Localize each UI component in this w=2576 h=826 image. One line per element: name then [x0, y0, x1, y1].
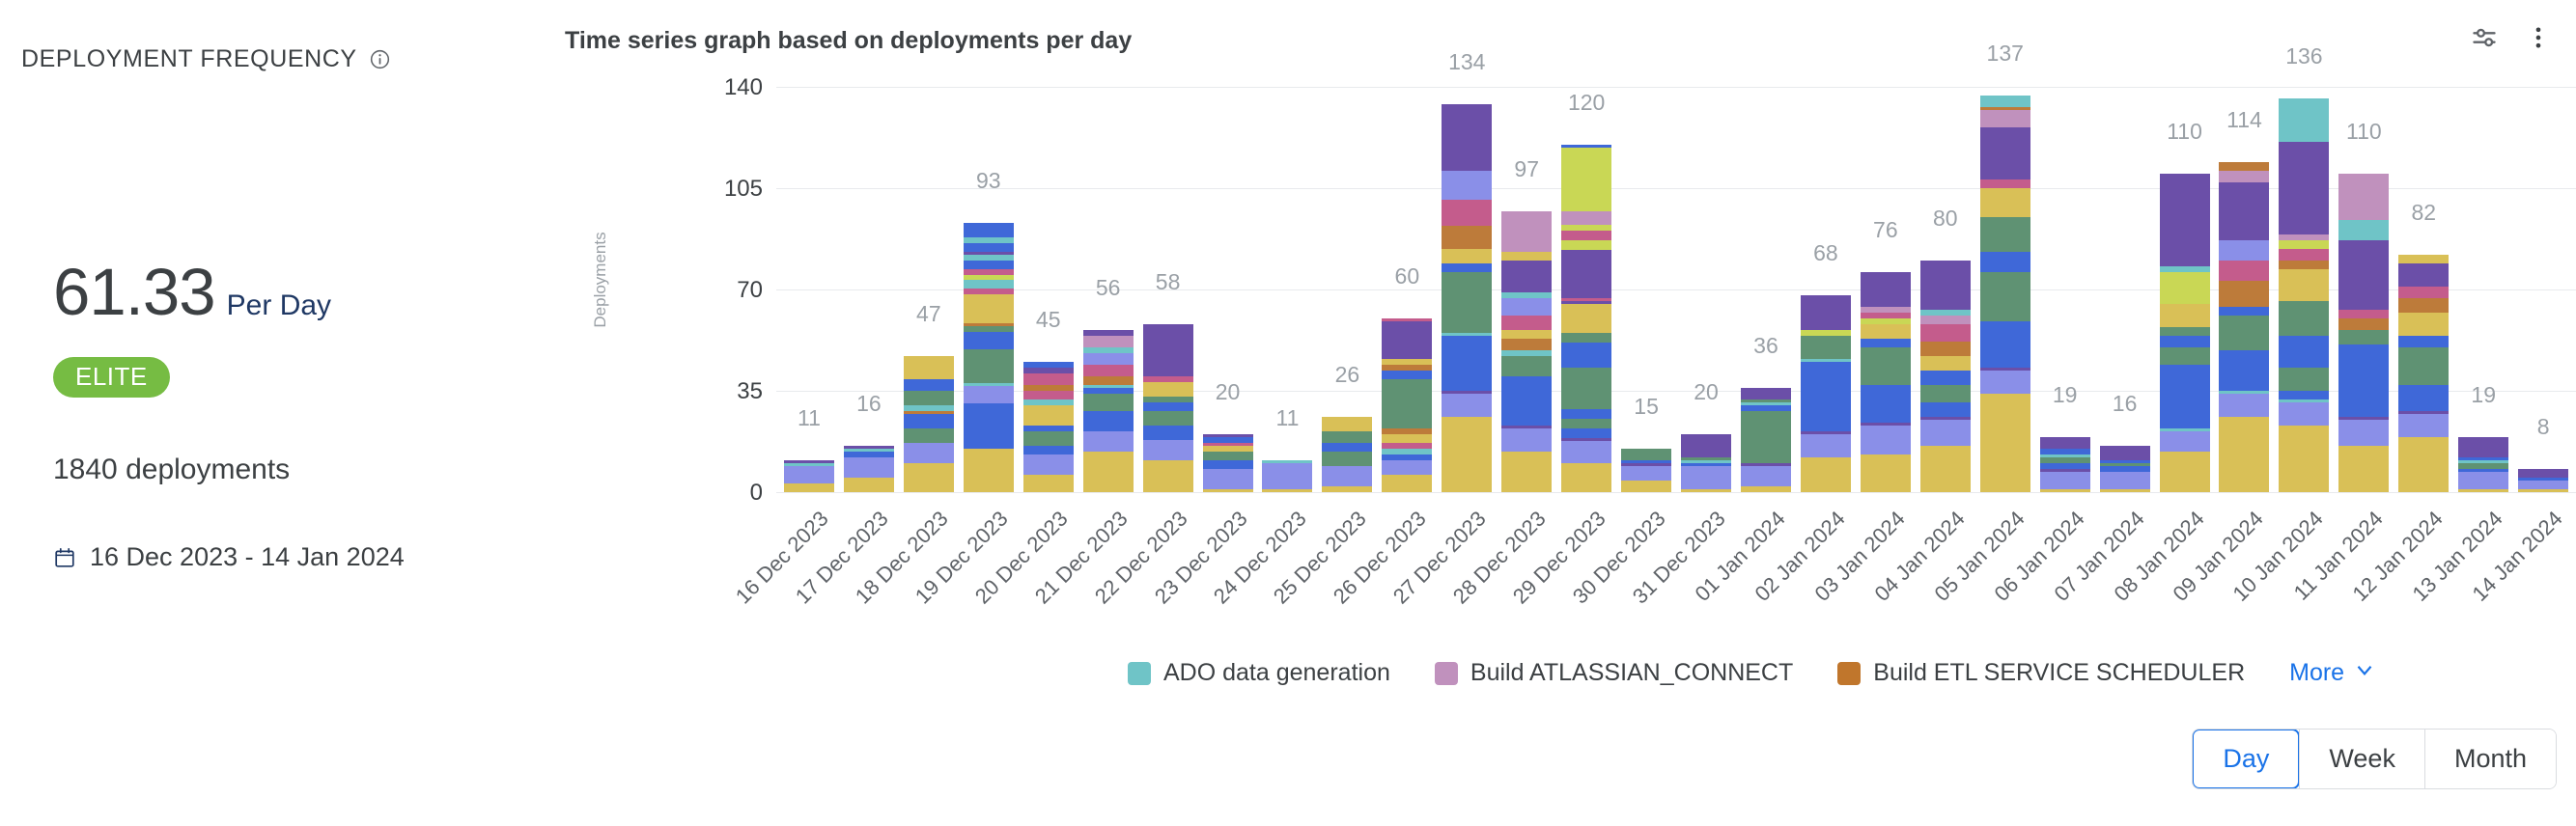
bar-segment[interactable] — [1382, 371, 1432, 379]
bar-segment[interactable] — [1920, 385, 1971, 402]
bar-segment[interactable] — [2518, 469, 2568, 478]
bar-segment[interactable] — [1501, 211, 1552, 252]
bar-slot: 134 — [1437, 87, 1497, 492]
bar-segment[interactable] — [1741, 486, 1791, 492]
bar-segment[interactable] — [2338, 310, 2389, 318]
bar-segment[interactable] — [844, 478, 894, 492]
bar-segment[interactable] — [1920, 446, 1971, 492]
bar-slot: 114 — [2215, 87, 2275, 492]
bar-segment[interactable] — [2398, 255, 2449, 263]
bar-value-label: 68 — [1796, 240, 1856, 266]
bar-segment[interactable] — [2398, 437, 2449, 492]
bar-segment[interactable] — [1501, 261, 1552, 292]
bar-segment[interactable] — [1861, 324, 1911, 339]
bar-segment[interactable] — [2398, 385, 2449, 411]
bar-segment[interactable] — [1083, 394, 1134, 411]
tune-icon[interactable] — [2468, 21, 2501, 54]
bar-segment[interactable] — [1442, 362, 1492, 391]
bar-slot: 120 — [1556, 87, 1616, 492]
legend-more-label: More — [2289, 659, 2344, 687]
bar-segment[interactable] — [2160, 347, 2210, 365]
bar-stack[interactable] — [2160, 174, 2210, 492]
bar-segment[interactable] — [964, 261, 1014, 269]
bar-value-label: 137 — [1975, 41, 2035, 67]
bar-segment[interactable] — [1980, 179, 2030, 188]
bar-segment[interactable] — [1920, 316, 1971, 324]
metric-unit: Per Day — [227, 289, 331, 322]
bar-segment[interactable] — [1801, 362, 1851, 397]
bar-segment[interactable] — [964, 449, 1014, 492]
bar-segment[interactable] — [1561, 304, 1611, 333]
bar-value-label: 16 — [839, 391, 899, 417]
bar-segment[interactable] — [1083, 431, 1134, 452]
bar-segment[interactable] — [1621, 481, 1671, 492]
bar-value-label: 110 — [2334, 119, 2394, 145]
bar-segment[interactable] — [1023, 431, 1074, 446]
bar-segment[interactable] — [1561, 368, 1611, 409]
bar-segment[interactable] — [1322, 443, 1372, 452]
bar-slot: 80 — [1916, 87, 1975, 492]
bar-segment[interactable] — [1322, 452, 1372, 466]
bar-segment[interactable] — [2338, 446, 2389, 492]
bar-segment[interactable] — [2338, 318, 2389, 330]
bar-segment[interactable] — [1382, 434, 1432, 443]
bar-segment[interactable] — [1023, 405, 1074, 426]
bar-segment[interactable] — [2398, 347, 2449, 362]
bar-segment[interactable] — [904, 391, 954, 405]
bar-segment[interactable] — [2100, 472, 2150, 489]
bar-stack[interactable] — [1561, 145, 1611, 492]
bar-segment[interactable] — [1920, 261, 1971, 310]
bar-segment[interactable] — [1920, 420, 1971, 446]
bar-segment[interactable] — [1561, 211, 1611, 224]
bar-value-label: 45 — [1019, 307, 1078, 333]
bar-segment[interactable] — [2518, 481, 2568, 489]
bar-stack[interactable] — [1382, 318, 1432, 492]
bar-stack[interactable] — [1442, 104, 1492, 492]
bar-segment[interactable] — [1083, 353, 1134, 365]
bar-segment[interactable] — [964, 403, 1014, 449]
legend-item[interactable]: ADO data generation — [1128, 659, 1390, 687]
bar-segment[interactable] — [2160, 452, 2210, 492]
bar-segment[interactable] — [1143, 426, 1193, 440]
bar-segment[interactable] — [1262, 489, 1312, 492]
bar-segment[interactable] — [1442, 200, 1492, 226]
bar-segment[interactable] — [2160, 365, 2210, 428]
bar-segment[interactable] — [2040, 472, 2090, 489]
bar-segment[interactable] — [2219, 182, 2269, 240]
bar-segment[interactable] — [1083, 336, 1134, 347]
bar-segment[interactable] — [2398, 313, 2449, 336]
bar-slot: 110 — [2155, 87, 2215, 492]
bar-segment[interactable] — [1023, 373, 1074, 385]
bar-segment[interactable] — [2160, 327, 2210, 336]
bar-segment[interactable] — [2398, 362, 2449, 385]
bar-stack[interactable] — [1322, 417, 1372, 492]
bar-segment[interactable] — [904, 443, 954, 463]
bar-segment[interactable] — [1203, 489, 1253, 492]
bar-segment[interactable] — [2219, 240, 2269, 261]
bar-segment[interactable] — [1980, 272, 2030, 321]
y-axis-tick: 70 — [647, 277, 763, 304]
bar-segment[interactable] — [964, 294, 1014, 323]
bar-segment[interactable] — [1083, 452, 1134, 492]
bar-segment[interactable] — [1561, 441, 1611, 463]
bar-segment[interactable] — [1382, 379, 1432, 428]
bar-segment[interactable] — [1920, 371, 1971, 385]
bar-segment[interactable] — [1203, 460, 1253, 469]
bar-segment[interactable] — [1143, 411, 1193, 426]
bar-segment[interactable] — [1382, 460, 1432, 475]
legend-swatch — [1837, 662, 1861, 685]
bar-segment[interactable] — [1023, 475, 1074, 492]
bar-segment[interactable] — [964, 349, 1014, 384]
bar-segment[interactable] — [1920, 402, 1971, 417]
bar-value-label: 82 — [2394, 200, 2453, 226]
bar-segment[interactable] — [1442, 104, 1492, 171]
bar-segment[interactable] — [1861, 454, 1911, 492]
bar-stack[interactable] — [2398, 255, 2449, 492]
bar-segment[interactable] — [904, 428, 954, 443]
legend-item[interactable]: Build ATLASSIAN_CONNECT — [1435, 659, 1793, 687]
bar-value-label: 60 — [1377, 263, 1437, 289]
bar-segment[interactable] — [904, 463, 954, 492]
bar-stack[interactable] — [1143, 324, 1193, 492]
bar-slot: 8 — [2513, 87, 2573, 492]
bar-segment[interactable] — [1561, 333, 1611, 343]
bar-segment[interactable] — [2100, 446, 2150, 460]
bar-segment[interactable] — [2338, 330, 2389, 344]
bar-segment[interactable] — [964, 223, 1014, 237]
bar-segment[interactable] — [1561, 240, 1611, 250]
bar-stack[interactable] — [2040, 437, 2090, 492]
bar-segment[interactable] — [2219, 162, 2269, 171]
bar-segment[interactable] — [2398, 336, 2449, 347]
bar-segment[interactable] — [1801, 434, 1851, 457]
bar-segment[interactable] — [2458, 489, 2508, 492]
bar-slot: 11 — [779, 87, 839, 492]
bar-segment[interactable] — [844, 457, 894, 478]
bar-segment[interactable] — [1442, 272, 1492, 281]
y-axis-tick: 140 — [647, 74, 763, 101]
bar-segment[interactable] — [2279, 426, 2329, 492]
bar-segment[interactable] — [1023, 391, 1074, 399]
bar-segment[interactable] — [2279, 269, 2329, 301]
bar-stack[interactable] — [2338, 174, 2389, 492]
bar-slot: 58 — [1138, 87, 1198, 492]
bar-segment[interactable] — [2338, 174, 2389, 217]
bar-segment[interactable] — [2219, 417, 2269, 492]
bar-segment[interactable] — [2398, 414, 2449, 437]
bar-segment[interactable] — [1980, 127, 2030, 177]
bar-segment[interactable] — [1801, 336, 1851, 359]
bar-segment[interactable] — [964, 243, 1014, 252]
bar-stack[interactable] — [844, 446, 894, 492]
bar-slot: 20 — [1676, 87, 1736, 492]
bar-segment[interactable] — [1980, 110, 2030, 127]
bar-segment[interactable] — [1322, 486, 1372, 492]
bar-segment[interactable] — [964, 280, 1014, 289]
bar-segment[interactable] — [2219, 350, 2269, 365]
bar-segment[interactable] — [1801, 295, 1851, 330]
bar-segment[interactable] — [1861, 385, 1911, 399]
bar-segment[interactable] — [1143, 460, 1193, 492]
bar-segment[interactable] — [1561, 225, 1611, 232]
bar-segment[interactable] — [1143, 382, 1193, 397]
bar-segment[interactable] — [1083, 411, 1134, 431]
bar-stack[interactable] — [784, 460, 834, 492]
legend-item[interactable]: Build ETL SERVICE SCHEDULER — [1837, 659, 2245, 687]
bar-segment[interactable] — [1861, 272, 1911, 307]
bar-segment[interactable] — [1442, 263, 1492, 272]
bar-segment[interactable] — [2279, 336, 2329, 368]
bar-segment[interactable] — [1262, 463, 1312, 489]
bar-value-label: 56 — [1078, 275, 1138, 301]
bar-stack[interactable] — [1920, 261, 1971, 492]
bar-stack[interactable] — [2100, 446, 2150, 492]
bar-segment[interactable] — [2160, 174, 2210, 266]
bar-segment[interactable] — [1561, 231, 1611, 240]
bar-segment[interactable] — [2338, 344, 2389, 359]
bar-stack[interactable] — [1023, 362, 1074, 492]
bar-segment[interactable] — [964, 332, 1014, 349]
bar-segment[interactable] — [2398, 298, 2449, 313]
bar-segment[interactable] — [1501, 330, 1552, 339]
chart-title: Time series graph based on deployments p… — [565, 27, 1132, 55]
bar-segment[interactable] — [2279, 261, 2329, 269]
bar-segment[interactable] — [2279, 98, 2329, 142]
bar-segment[interactable] — [2338, 359, 2389, 417]
bar-segment[interactable] — [2219, 281, 2269, 307]
bar-segment[interactable] — [2160, 272, 2210, 304]
bar-segment[interactable] — [904, 379, 954, 391]
bar-value-label: 110 — [2155, 119, 2215, 145]
bar-segment[interactable] — [2398, 263, 2449, 287]
bar-segment[interactable] — [2279, 142, 2329, 234]
bar-segment[interactable] — [2279, 301, 2329, 336]
bar-segment[interactable] — [2219, 307, 2269, 316]
bar-stack[interactable] — [904, 356, 954, 492]
bar-segment[interactable] — [1203, 469, 1253, 489]
bar-stack[interactable] — [1203, 434, 1253, 492]
bar-segment[interactable] — [1741, 466, 1791, 486]
chart-card: Time series graph based on deployments p… — [541, 0, 2576, 826]
bar-value-label: 76 — [1856, 217, 1916, 243]
bar-segment[interactable] — [1322, 417, 1372, 431]
bar-slot: 56 — [1078, 87, 1138, 492]
bar-segment[interactable] — [784, 466, 834, 483]
bar-segment[interactable] — [2279, 249, 2329, 261]
bar-segment[interactable] — [1980, 394, 2030, 492]
bar-segment[interactable] — [1143, 324, 1193, 376]
bar-segment[interactable] — [1501, 452, 1552, 492]
bar-segment[interactable] — [964, 386, 1014, 403]
bar-slot: 45 — [1019, 87, 1078, 492]
bar-segment[interactable] — [1920, 324, 1971, 342]
bar-segment[interactable] — [1501, 428, 1552, 452]
bar-stack[interactable] — [2458, 437, 2508, 492]
bar-segment[interactable] — [1561, 343, 1611, 368]
bar-segment[interactable] — [1561, 428, 1611, 438]
bar-segment[interactable] — [1980, 371, 2030, 394]
bar-segment[interactable] — [2160, 304, 2210, 327]
bar-segment[interactable] — [1980, 188, 2030, 217]
bar-stack[interactable] — [1621, 449, 1671, 492]
bar-segment[interactable] — [904, 414, 954, 428]
bar-stack[interactable] — [1980, 96, 2030, 492]
bar-stack[interactable] — [1801, 295, 1851, 492]
legend-more-button[interactable]: More — [2289, 657, 2377, 689]
bar-slot: 16 — [839, 87, 899, 492]
bar-segment[interactable] — [2219, 316, 2269, 350]
bar-segment[interactable] — [1501, 252, 1552, 261]
chart-header-actions — [2468, 21, 2555, 54]
bars-layer: 1116479345565820112660134971201520366876… — [779, 87, 2573, 492]
bar-segment[interactable] — [1083, 365, 1134, 376]
bar-segment[interactable] — [1561, 409, 1611, 419]
more-vertical-icon[interactable] — [2522, 21, 2555, 54]
bar-segment[interactable] — [2219, 171, 2269, 182]
bar-segment[interactable] — [1681, 434, 1731, 457]
bar-segment[interactable] — [1561, 250, 1611, 298]
status-badge: ELITE — [53, 357, 170, 398]
bar-segment[interactable] — [1501, 394, 1552, 426]
bar-segment[interactable] — [2279, 368, 2329, 391]
bar-stack[interactable] — [2279, 98, 2329, 492]
bar-value-label: 16 — [2095, 391, 2155, 417]
bar-segment[interactable] — [1980, 252, 2030, 272]
bar-segment[interactable] — [2219, 365, 2269, 391]
bar-segment[interactable] — [1681, 466, 1731, 489]
bar-value-label: 58 — [1138, 269, 1198, 295]
bar-segment[interactable] — [1920, 356, 1971, 371]
legend-label: Build ETL SERVICE SCHEDULER — [1873, 659, 2245, 687]
bar-segment[interactable] — [2458, 437, 2508, 457]
bar-stack[interactable] — [1861, 272, 1911, 492]
bar-segment[interactable] — [1442, 281, 1492, 333]
bar-segment[interactable] — [2279, 402, 2329, 426]
bar-segment[interactable] — [1681, 489, 1731, 492]
bar-stack[interactable] — [1741, 388, 1791, 492]
bar-segment[interactable] — [1621, 449, 1671, 460]
bar-segment[interactable] — [1621, 466, 1671, 481]
bar-segment[interactable] — [2160, 431, 2210, 452]
bar-segment[interactable] — [1501, 356, 1552, 376]
bar-segment[interactable] — [2398, 287, 2449, 298]
bar-segment[interactable] — [2279, 240, 2329, 249]
bar-slot: 15 — [1616, 87, 1676, 492]
info-icon[interactable] — [369, 48, 391, 70]
granularity-month-button[interactable]: Month — [2424, 730, 2556, 788]
bar-segment[interactable] — [1442, 226, 1492, 249]
bar-segment[interactable] — [2219, 261, 2269, 281]
bar-segment[interactable] — [2458, 472, 2508, 489]
bar-segment[interactable] — [1980, 96, 2030, 107]
date-range-row[interactable]: 16 Dec 2023 - 14 Jan 2024 — [53, 542, 405, 572]
bar-segment[interactable] — [1920, 342, 1971, 356]
bar-segment[interactable] — [1561, 419, 1611, 428]
bar-segment[interactable] — [1203, 452, 1253, 460]
bar-segment[interactable] — [1442, 171, 1492, 200]
bar-segment[interactable] — [1861, 339, 1911, 347]
bar-slot: 11 — [1258, 87, 1318, 492]
bar-segment[interactable] — [2338, 220, 2389, 240]
bar-segment[interactable] — [1442, 394, 1492, 417]
granularity-week-button[interactable]: Week — [2299, 730, 2424, 788]
bar-segment[interactable] — [2279, 391, 2329, 399]
bar-segment[interactable] — [904, 356, 954, 379]
deployments-total: 1840 deployments — [53, 454, 290, 486]
bar-segment[interactable] — [1382, 321, 1432, 359]
bar-value-label: 19 — [2035, 382, 2095, 408]
bar-segment[interactable] — [1501, 298, 1552, 316]
bar-segment[interactable] — [1143, 440, 1193, 460]
bar-segment[interactable] — [2338, 240, 2389, 310]
bar-segment[interactable] — [2219, 394, 2269, 417]
bar-segment[interactable] — [2160, 336, 2210, 347]
bar-segment[interactable] — [1741, 411, 1791, 463]
bar-segment[interactable] — [1501, 339, 1552, 350]
bar-segment[interactable] — [1501, 376, 1552, 394]
bar-segment[interactable] — [1561, 463, 1611, 492]
bar-segment[interactable] — [2100, 489, 2150, 492]
bar-value-label: 11 — [779, 405, 839, 431]
chevron-down-icon — [2352, 657, 2377, 689]
bar-segment[interactable] — [1083, 376, 1134, 385]
bar-stack[interactable] — [1083, 330, 1134, 492]
bar-segment[interactable] — [2040, 489, 2090, 492]
x-axis-labels: 16 Dec 202317 Dec 202318 Dec 202319 Dec … — [779, 500, 2573, 625]
bar-stack[interactable] — [2518, 469, 2568, 492]
bar-segment[interactable] — [1442, 336, 1492, 362]
bar-stack[interactable] — [964, 223, 1014, 492]
metric-summary-panel: DEPLOYMENT FREQUENCY 61.33 Per Day ELITE… — [0, 0, 541, 826]
granularity-day-button[interactable]: Day — [2192, 729, 2300, 789]
bar-segment[interactable] — [1561, 148, 1611, 211]
bar-stack[interactable] — [2219, 162, 2269, 492]
bar-stack[interactable] — [1501, 211, 1552, 492]
bar-segment[interactable] — [1861, 426, 1911, 454]
bar-segment[interactable] — [1322, 466, 1372, 486]
bar-segment[interactable] — [2518, 489, 2568, 492]
bar-segment[interactable] — [1741, 388, 1791, 399]
bar-slot: 93 — [959, 87, 1019, 492]
bar-slot: 36 — [1736, 87, 1796, 492]
bar-slot: 47 — [899, 87, 959, 492]
bar-segment[interactable] — [1322, 431, 1372, 443]
bar-segment[interactable] — [1442, 417, 1492, 492]
bar-segment[interactable] — [2338, 420, 2389, 446]
bar-segment[interactable] — [1023, 454, 1074, 475]
bar-segment[interactable] — [1980, 321, 2030, 368]
bar-segment[interactable] — [1442, 249, 1492, 263]
bar-value-label: 36 — [1736, 333, 1796, 359]
bar-segment[interactable] — [1861, 347, 1911, 385]
bar-segment[interactable] — [1801, 397, 1851, 431]
bar-segment[interactable] — [784, 483, 834, 492]
bar-segment[interactable] — [1501, 316, 1552, 330]
bar-segment[interactable] — [1382, 475, 1432, 492]
bar-segment[interactable] — [1023, 446, 1074, 454]
bar-stack[interactable] — [1681, 434, 1731, 492]
bar-slot: 16 — [2095, 87, 2155, 492]
bar-segment[interactable] — [1980, 217, 2030, 252]
bar-stack[interactable] — [1262, 460, 1312, 492]
bar-segment[interactable] — [2040, 437, 2090, 449]
bar-segment[interactable] — [1861, 399, 1911, 423]
bar-segment[interactable] — [1801, 457, 1851, 492]
bar-segment[interactable] — [1143, 402, 1193, 411]
